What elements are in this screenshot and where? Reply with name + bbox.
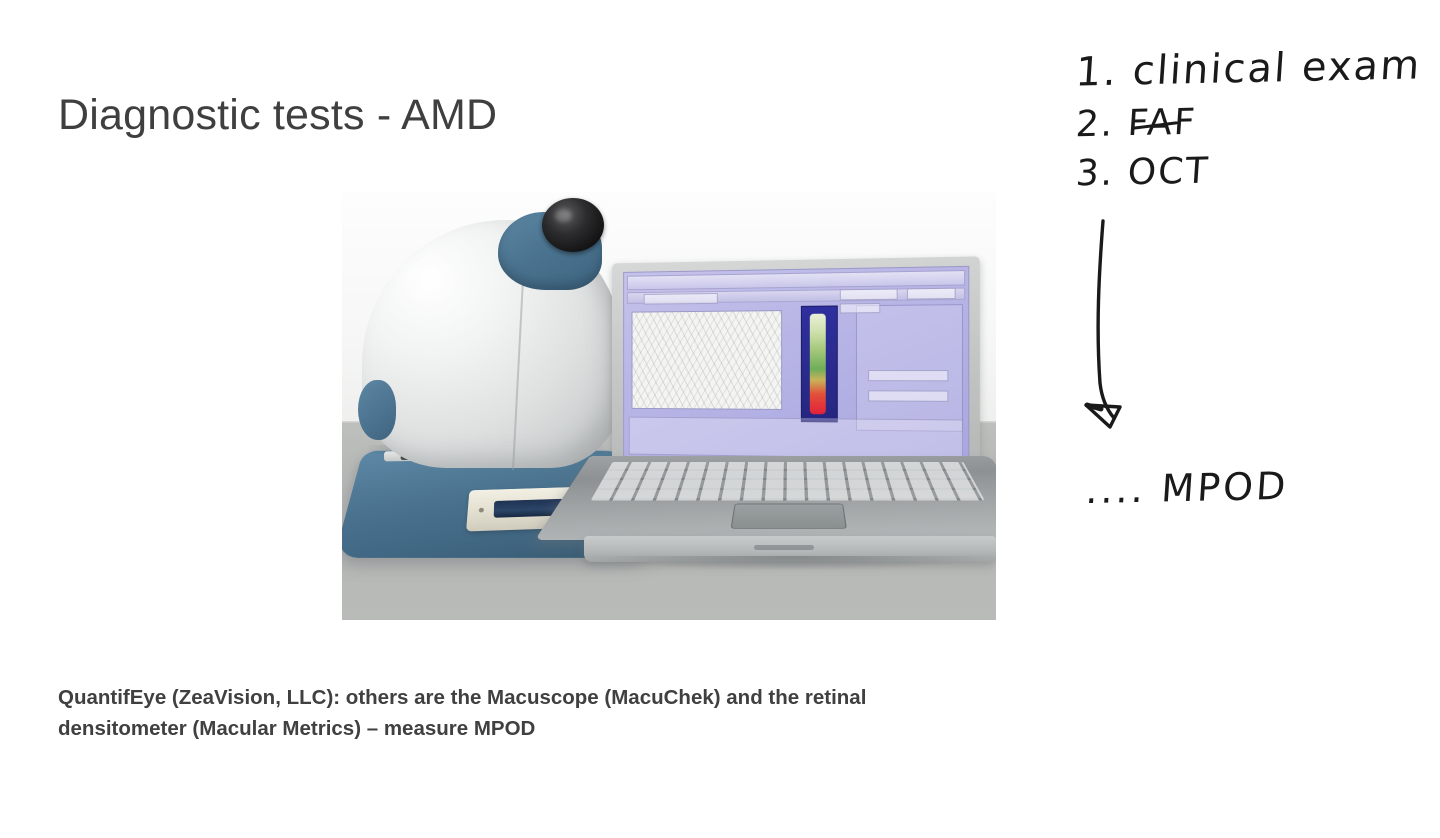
caption-line-2: densitometer (Macular Metrics) – measure… [58,713,1068,744]
laptop-lid [612,256,980,481]
software-widget [644,293,719,305]
quantifeye-photo [342,192,996,620]
handwritten-strikethrough [1132,121,1178,130]
device-side-accent [358,380,396,440]
software-right-panel [856,304,963,431]
laptop-screen [623,266,969,467]
software-widget [868,390,949,402]
handwritten-item-3-text: 3. OCT [1075,151,1211,195]
software-widget [840,288,899,300]
page-title: Diagnostic tests - AMD [58,92,497,139]
handwritten-list-item-1: 1. clinical exam [1076,46,1421,92]
laptop-keyboard-deck [535,456,996,540]
laptop-shadow [592,556,992,570]
mpod-gauge-bar [810,313,826,414]
handwritten-mpod-label: .... MPOD [1086,466,1288,510]
software-status-bar [629,417,963,460]
laptop-touchpad [731,504,847,529]
mpod-gauge [801,305,837,422]
software-plot-area [632,310,782,410]
device-eyepiece [542,198,604,252]
handwritten-down-arrow-icon [1070,215,1200,435]
laptop-keys [591,462,985,500]
laptop [590,260,990,605]
device-dome-seam [512,280,524,470]
handwritten-item-1-text: 1. clinical exam [1074,42,1423,95]
caption-line-1: QuantifEye (ZeaVision, LLC): others are … [58,682,1068,713]
software-widget [868,370,949,381]
photo-caption: QuantifEye (ZeaVision, LLC): others are … [58,682,1068,744]
handwritten-mpod-text: .... MPOD [1084,464,1290,512]
handwritten-list-item-3: 3. OCT [1076,152,1209,193]
handwritten-item-2-text: 2. FAF [1075,102,1198,146]
device-panel-screw [479,508,484,513]
software-widget [840,303,881,314]
software-widget [907,288,956,300]
laptop-latch [754,545,814,550]
handwritten-list-item-2: 2. FAF [1076,103,1197,144]
